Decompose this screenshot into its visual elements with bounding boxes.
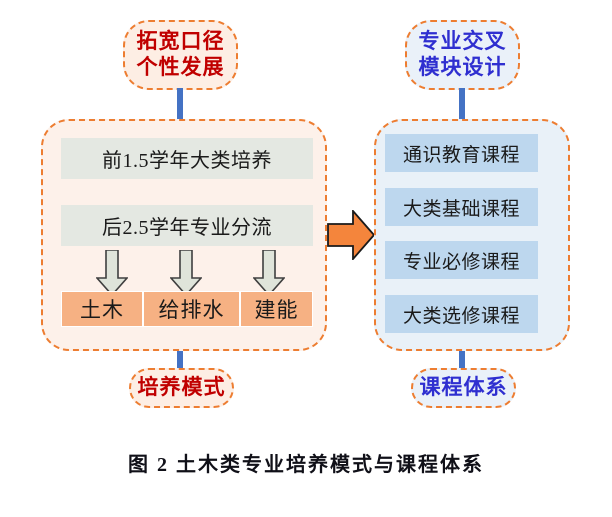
down-arrow-icon	[170, 250, 202, 296]
course-box-discipline-elective: 大类选修课程	[385, 295, 538, 333]
callout-top-left: 拓宽口径 个性发展	[123, 20, 238, 90]
stage-box-second: 后2.5学年专业分流	[61, 205, 313, 246]
connector-top-right	[459, 88, 465, 121]
callout-top-left-line2: 个性发展	[137, 55, 225, 81]
callout-top-right: 专业交叉 模块设计	[405, 20, 520, 90]
major-box-water-supply: 给排水	[143, 291, 240, 327]
callout-bottom-left: 培养模式	[129, 368, 234, 408]
callout-top-right-line1: 专业交叉	[419, 29, 507, 55]
figure-canvas: 拓宽口径 个性发展 专业交叉 模块设计 前1.5学年大类培养 后2.5学年专业分…	[0, 0, 612, 517]
course-box-general-education: 通识教育课程	[385, 134, 538, 172]
right-arrow-icon	[327, 210, 375, 260]
connector-top-left	[177, 88, 183, 121]
down-arrow-icon	[96, 250, 128, 296]
course-box-major-required: 专业必修课程	[385, 241, 538, 279]
figure-caption: 图 2 土木类专业培养模式与课程体系	[0, 448, 612, 477]
major-box-civil: 土木	[61, 291, 143, 327]
callout-top-left-line1: 拓宽口径	[137, 29, 225, 55]
callout-top-right-line2: 模块设计	[419, 55, 507, 81]
callout-bottom-right: 课程体系	[411, 368, 516, 408]
course-box-discipline-foundation: 大类基础课程	[385, 188, 538, 226]
down-arrow-icon	[253, 250, 285, 296]
major-box-building-energy: 建能	[240, 291, 313, 327]
stage-box-first: 前1.5学年大类培养	[61, 138, 313, 179]
